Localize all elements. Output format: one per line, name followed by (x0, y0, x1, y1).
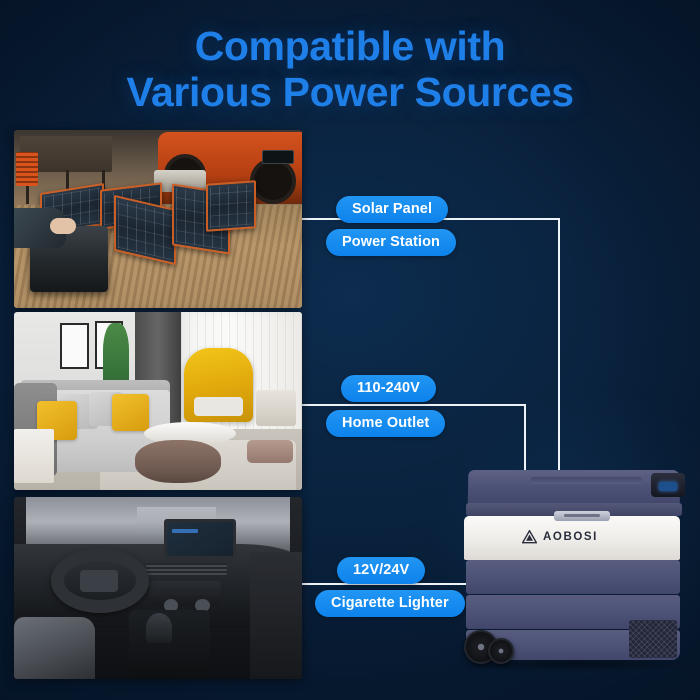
label-solar-panel[interactable]: Solar Panel (336, 196, 448, 223)
fridge-wheel-rear (488, 638, 514, 664)
label-power-station[interactable]: Power Station (326, 229, 456, 256)
fridge-lid-groove (530, 477, 642, 484)
fridge-display-led (659, 482, 677, 491)
label-home-outlet[interactable]: Home Outlet (326, 410, 445, 437)
page-title-line2: Various Power Sources (0, 70, 700, 116)
product-brand-text: AOBOSI (543, 531, 598, 543)
solar-panel-photo (14, 130, 302, 308)
page-title-line1: Compatible with (195, 23, 506, 69)
fridge-lid-latch[interactable] (554, 511, 610, 521)
fridge-control-panel[interactable] (651, 473, 685, 497)
fridge-vent-grille (629, 620, 677, 658)
fridge-body-band-upper (466, 560, 680, 594)
wire-home-horizontal (302, 404, 526, 406)
home-outlet-photo (14, 312, 302, 490)
wire-home-vertical (524, 404, 526, 470)
product-fridge: AOBOSI (462, 470, 687, 660)
label-voltage-dc[interactable]: 12V/24V (337, 557, 425, 584)
page-title: Compatible with Various Power Sources (0, 24, 700, 116)
aobosi-logo-icon (522, 530, 537, 544)
product-brand: AOBOSI (522, 530, 598, 544)
wire-solar-vertical (558, 218, 560, 470)
label-cigarette-lighter[interactable]: Cigarette Lighter (315, 590, 465, 617)
car-interior-photo (14, 497, 302, 679)
label-voltage-ac[interactable]: 110-240V (341, 375, 436, 402)
